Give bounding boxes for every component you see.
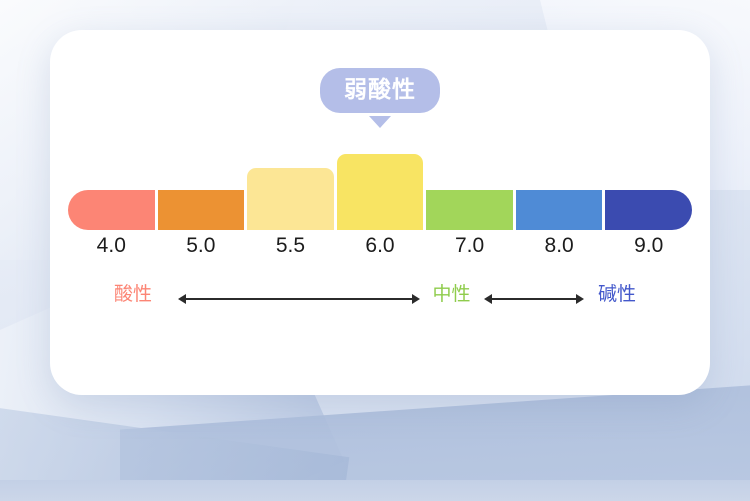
tooltip-label: 弱酸性 bbox=[344, 76, 416, 102]
legend-label-alkaline: 碱性 bbox=[598, 285, 636, 304]
background-facet-bottom bbox=[120, 381, 750, 501]
arrow-shaft bbox=[489, 298, 579, 300]
ph-segment-8-0[interactable] bbox=[516, 190, 603, 230]
ph-segment-9-0[interactable] bbox=[605, 190, 692, 230]
arrow-shaft bbox=[183, 298, 415, 300]
ph-segment-6-0[interactable] bbox=[337, 154, 424, 230]
ph-tick-8-0: 8.0 bbox=[545, 235, 574, 256]
ph-scale-illustration: 弱酸性 4.05.05.56.07.08.09.0 酸性 中性 碱性 bbox=[0, 0, 750, 501]
ph-tick-labels: 4.05.05.56.07.08.09.0 bbox=[68, 235, 692, 265]
arrow-head-right-icon bbox=[412, 294, 420, 304]
ph-legend: 酸性 中性 碱性 bbox=[68, 285, 692, 319]
ph-segment-5-5[interactable] bbox=[247, 168, 334, 230]
ph-status-tooltip: 弱酸性 bbox=[320, 68, 440, 113]
legend-label-neutral: 中性 bbox=[433, 285, 471, 304]
ph-tick-9-0: 9.0 bbox=[634, 235, 663, 256]
ph-tick-7-0: 7.0 bbox=[455, 235, 484, 256]
ph-tick-5-5: 5.5 bbox=[276, 235, 305, 256]
ph-segment-7-0[interactable] bbox=[426, 190, 513, 230]
background-facet-bottom-strip bbox=[0, 480, 750, 501]
neutral-to-alkaline-arrow-icon bbox=[484, 294, 584, 304]
ph-card: 弱酸性 4.05.05.56.07.08.09.0 酸性 中性 碱性 bbox=[50, 30, 710, 395]
ph-scale-bar bbox=[68, 154, 692, 230]
background-facet-bottom-left bbox=[0, 404, 349, 501]
ph-tick-6-0: 6.0 bbox=[365, 235, 394, 256]
ph-segment-5-0[interactable] bbox=[158, 190, 245, 230]
legend-label-acidic: 酸性 bbox=[114, 285, 152, 304]
arrow-head-right-icon bbox=[576, 294, 584, 304]
tooltip-pointer-icon bbox=[369, 116, 391, 128]
ph-tick-4-0: 4.0 bbox=[97, 235, 126, 256]
ph-tick-5-0: 5.0 bbox=[186, 235, 215, 256]
acidic-to-neutral-arrow-icon bbox=[178, 294, 420, 304]
ph-segment-4-0[interactable] bbox=[68, 190, 155, 230]
